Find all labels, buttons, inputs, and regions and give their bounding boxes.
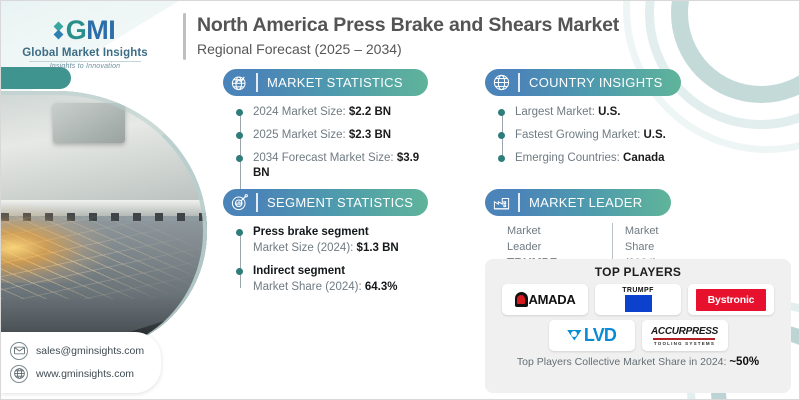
segment-name: Indirect segment (253, 264, 428, 279)
segment-metric: Market Size (2024): (253, 242, 357, 254)
top-players-title: TOP PLAYERS (493, 265, 783, 279)
infographic-page: GMI Global Market Insights Insights to I… (0, 0, 800, 400)
player-logo-accurpress[interactable]: ACCURPRESS TOOLING SYSTEMS (642, 320, 728, 351)
list-item: Press brake segment Market Size (2024): … (253, 225, 428, 256)
accurpress-wordmark: ACCURPRESS (651, 326, 718, 337)
contact-website: www.gminsights.com (36, 368, 134, 380)
player-logo-lvd[interactable]: LVD (549, 320, 635, 351)
top-players-panel: TOP PLAYERS AMADA TRUMPF Bystronic LVD A… (485, 259, 791, 393)
item-value: U.S. (643, 129, 665, 141)
page-title: North America Press Brake and Shears Mar… (197, 13, 619, 38)
diamond-icon (55, 23, 62, 38)
logo-wordmark: GMI (66, 15, 116, 46)
item-label: 2025 Market Size: (253, 129, 349, 141)
list-item: 2034 Forecast Market Size: $3.9 BN (253, 151, 428, 181)
segment-value: 64.3% (365, 281, 398, 293)
player-logo-bystronic[interactable]: Bystronic (688, 284, 774, 315)
gmi-logo: GMI Global Market Insights Insights to I… (9, 11, 161, 73)
page-subtitle: Regional Forecast (2025 – 2034) (197, 39, 619, 60)
item-label: Fastest Growing Market: (515, 129, 643, 141)
list-item: 2024 Market Size: $2.2 BN (253, 105, 428, 120)
player-logo-amada[interactable]: AMADA (502, 284, 588, 315)
contact-website-row[interactable]: www.gminsights.com (10, 362, 151, 385)
section-market-statistics: MARKET STATISTICS 2024 Market Size: $2.2… (223, 69, 428, 204)
list-item: Indirect segment Market Share (2024): 64… (253, 264, 428, 295)
globe-chart-icon (223, 69, 256, 96)
accurpress-tagline: TOOLING SYSTEMS (654, 341, 715, 346)
market-statistics-header: MARKET STATISTICS (223, 69, 428, 96)
item-label: Largest Market: (515, 106, 598, 118)
segment-statistics-title: SEGMENT STATISTICS (256, 189, 428, 216)
contact-email-row[interactable]: sales@gminsights.com (10, 339, 151, 362)
list-item: Emerging Countries: Canada (515, 151, 681, 166)
player-logo-trumpf[interactable]: TRUMPF (595, 284, 681, 315)
bystronic-wordmark: Bystronic (696, 289, 766, 311)
top-players-row-2: LVD ACCURPRESS TOOLING SYSTEMS (493, 320, 783, 351)
collective-share-value: ~50% (729, 356, 759, 368)
contact-panel: sales@gminsights.com www.gminsights.com (1, 332, 161, 393)
top-players-footer: Top Players Collective Market Share in 2… (493, 356, 783, 368)
contact-email: sales@gminsights.com (36, 345, 144, 357)
market-leader-title: MARKET LEADER (518, 189, 671, 216)
item-label: Emerging Countries: (515, 152, 623, 164)
item-value: U.S. (598, 106, 620, 118)
title-accent-bar (183, 13, 186, 60)
list-item: Largest Market: U.S. (515, 105, 681, 120)
collective-share-label: Top Players Collective Market Share in 2… (517, 356, 729, 368)
section-segment-statistics: SEGMENT STATISTICS Press brake segment M… (223, 189, 428, 295)
segment-name: Press brake segment (253, 225, 428, 240)
decorative-arc-inner (671, 0, 800, 103)
country-insights-list: Largest Market: U.S. Fastest Growing Mar… (498, 105, 681, 166)
globe-icon (485, 69, 518, 96)
segment-value: $1.3 BN (357, 242, 399, 254)
market-leader-header: MARKET LEADER (485, 189, 671, 216)
country-insights-header: COUNTRY INSIGHTS (485, 69, 681, 96)
item-value: $2.2 BN (349, 106, 391, 118)
item-label: 2034 Forecast Market Size: (253, 152, 397, 164)
logo-tagline: Insights to Innovation (50, 63, 121, 70)
market-statistics-title: MARKET STATISTICS (256, 69, 428, 96)
list-item: 2025 Market Size: $2.3 BN (253, 128, 428, 143)
item-value: $2.3 BN (349, 129, 391, 141)
lvd-wordmark: LVD (584, 325, 616, 346)
item-value: Canada (623, 152, 665, 164)
amada-wordmark: AMADA (529, 292, 576, 307)
section-country-insights: COUNTRY INSIGHTS Largest Market: U.S. Fa… (485, 69, 681, 166)
logo-lockup: GMI (55, 15, 116, 46)
segment-statistics-header: SEGMENT STATISTICS (223, 189, 428, 216)
factory-icon (485, 189, 518, 216)
item-label: 2024 Market Size: (253, 106, 349, 118)
hero-machine-photo (1, 91, 207, 351)
logo-divider (29, 61, 141, 62)
country-insights-title: COUNTRY INSIGHTS (518, 69, 681, 96)
segment-metric: Market Share (2024): (253, 281, 365, 293)
list-item: Fastest Growing Market: U.S. (515, 128, 681, 143)
globe-icon (10, 365, 28, 383)
logo-company-name: Global Market Insights (22, 47, 148, 59)
top-players-row-1: AMADA TRUMPF Bystronic (493, 284, 783, 315)
trumpf-wordmark: TRUMPF (622, 287, 654, 294)
envelope-icon (10, 342, 28, 360)
target-chart-icon (223, 189, 256, 216)
segment-statistics-list: Press brake segment Market Size (2024): … (236, 225, 428, 295)
market-leader-caption: Market Leader (507, 223, 562, 255)
page-title-block: North America Press Brake and Shears Mar… (183, 13, 619, 60)
